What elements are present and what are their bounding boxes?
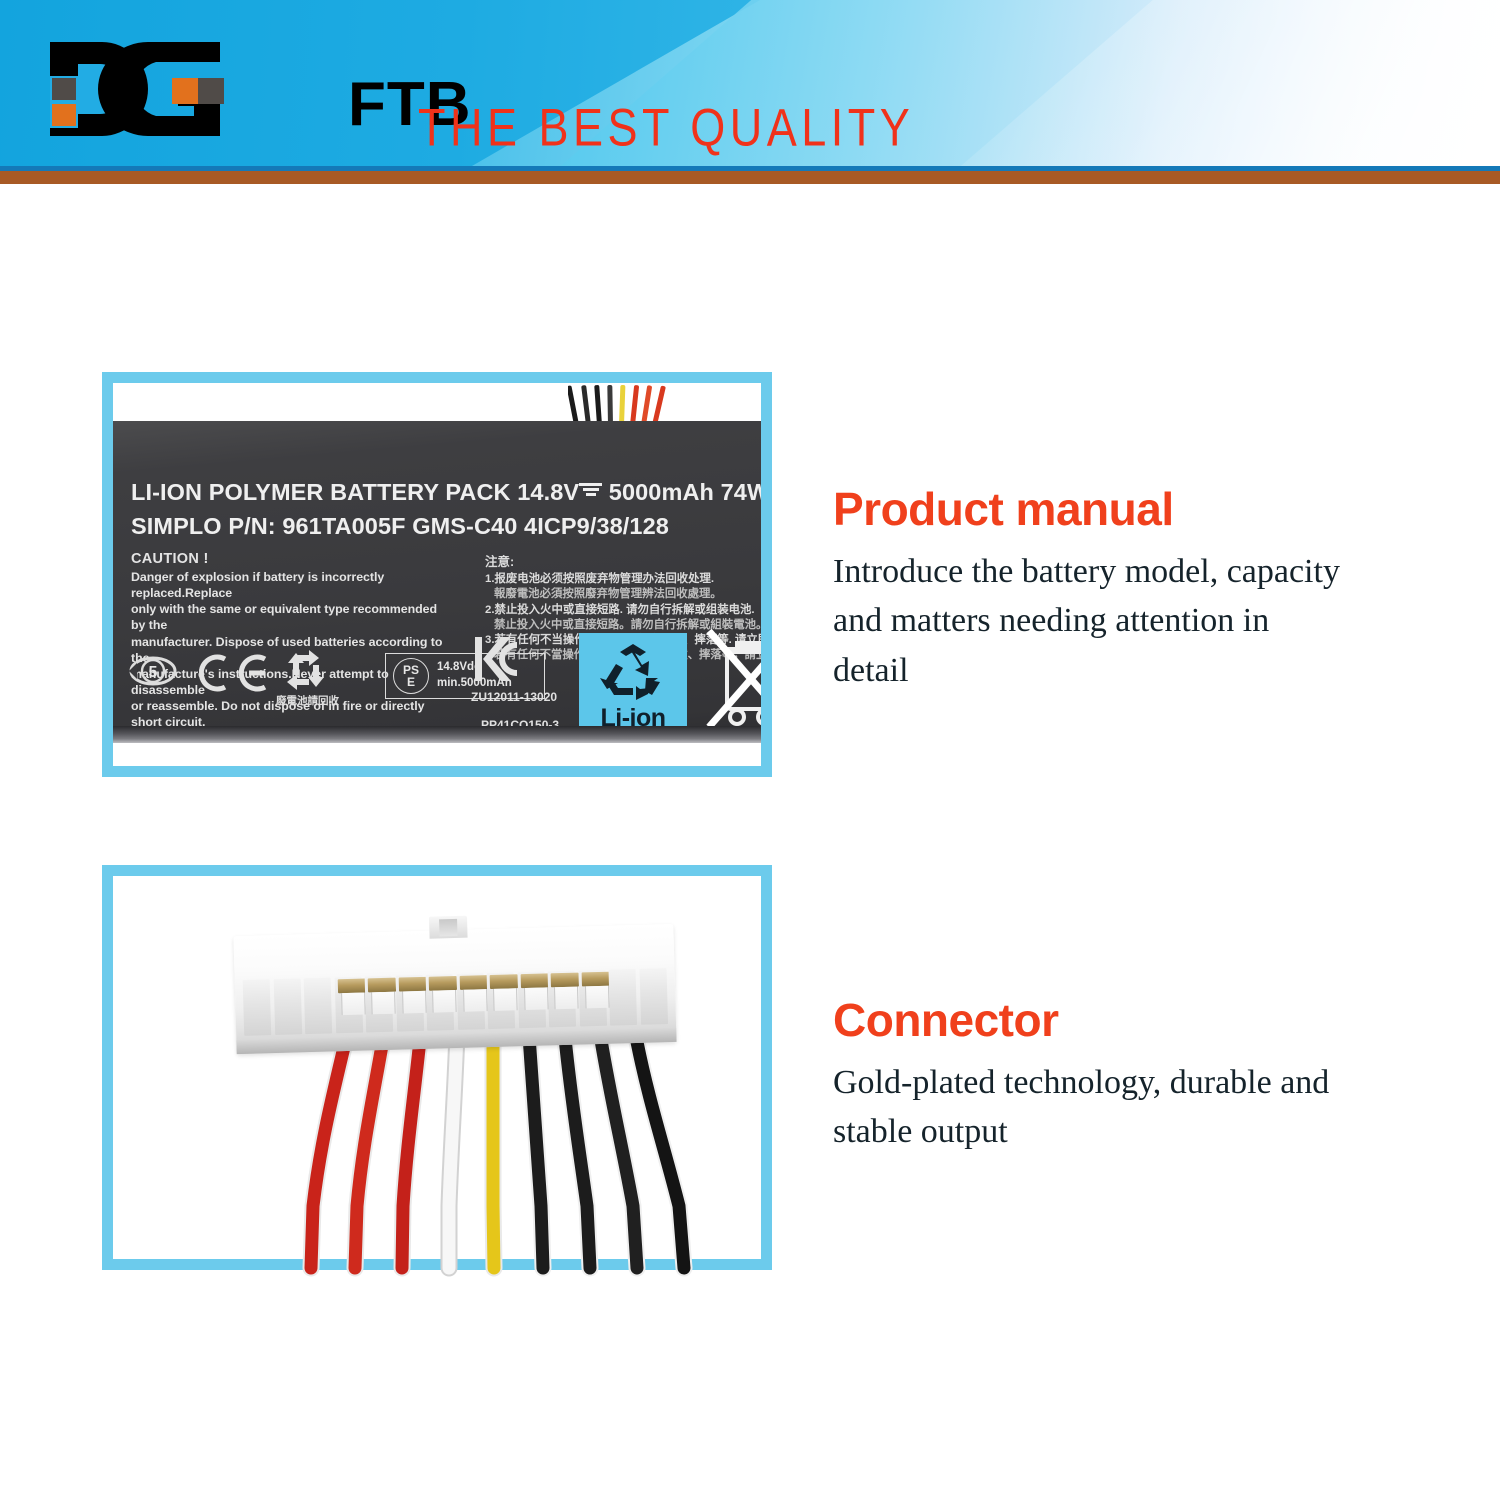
connector-gold-pin [365, 976, 394, 1033]
connector-image-panel [102, 865, 772, 1270]
battery-bottom-bevel [113, 726, 761, 743]
banner-rule-brown [0, 171, 1500, 184]
battery-image-panel: LI-ION POLYMER BATTERY PACK 14.8V 5000mA… [102, 372, 772, 777]
rohs-number: 5 [149, 664, 158, 681]
connector-gold-pin [395, 975, 424, 1032]
dg-logo-icon [44, 38, 356, 140]
dc-symbol-icon [579, 481, 602, 499]
cn-caution-line: 報廢電池必須按照廢弃物管理辨法回收處理。 [485, 587, 757, 602]
infographic-page: FTB THE BEST QUALITY LI-ION POLYMER BATT… [0, 0, 1500, 1500]
caution-line: Danger of explosion if battery is incorr… [131, 569, 443, 601]
product-manual-text: Product manual Introduce the battery mod… [833, 484, 1353, 695]
kc-mark: ZU12011-13020 PP41CO150-3 [471, 635, 559, 732]
rohs-icon: 5 [127, 649, 179, 698]
kc-code-1: ZU12011-13020 [471, 690, 559, 704]
connector-latch-tab [429, 916, 468, 939]
cn-caution-line: 2.禁止投入火中或直接短路. 请勿自行拆解或组装电池. [485, 603, 757, 618]
connector-housing [233, 924, 676, 1054]
weee-crossed-bin-icon [705, 617, 761, 739]
cn-caution-heading: 注意: [485, 551, 757, 570]
caution-line: only with the same or equivalent type re… [131, 601, 443, 633]
connector-text: Connector Gold-plated technology, durabl… [833, 995, 1353, 1157]
product-manual-heading: Product manual [833, 484, 1353, 535]
connector-slot [243, 979, 272, 1036]
battery-photo: LI-ION POLYMER BATTERY PACK 14.8V 5000mA… [113, 383, 761, 766]
battery-spec-line-1: LI-ION POLYMER BATTERY PACK 14.8V 5000mA… [131, 479, 761, 506]
connector-gold-pin [456, 973, 485, 1030]
li-ion-recycle-badge: Li-ion [579, 633, 687, 739]
cn-caution-line: 1.报废电池必须按照废弃物管理办法回收处理. [485, 572, 757, 587]
header-banner: FTB THE BEST QUALITY [0, 0, 1500, 184]
battery-spec-line-2: SIMPLO P/N: 961TA005F GMS-C40 4ICP9/38/1… [131, 513, 669, 540]
pse-icon: PS E [393, 658, 429, 694]
product-manual-body: Introduce the battery model, capacity an… [833, 547, 1353, 696]
battery-wire-bundle-icon [568, 383, 678, 425]
connector-photo [113, 876, 761, 1259]
connector-slot [304, 977, 333, 1034]
banner-slogan: THE BEST QUALITY [418, 97, 914, 158]
connector-body: Gold-plated technology, durable and stab… [833, 1058, 1353, 1157]
connector-gold-pin [578, 970, 607, 1027]
connector-gold-pin [517, 971, 546, 1028]
brand-logo: FTB [44, 38, 472, 140]
connector-pin-row [243, 968, 668, 1036]
connector-gold-pin [548, 971, 577, 1028]
connector-slot [609, 969, 638, 1026]
recycle-label-cn: 廢電池請回收 [276, 693, 339, 708]
connector-gold-pin [487, 972, 516, 1029]
pse-bottom-text: E [407, 676, 415, 688]
li-ion-recycle-icon [596, 642, 670, 704]
connector-gold-pin [426, 974, 455, 1031]
connector-gold-pin [334, 977, 363, 1034]
caution-heading: CAUTION ! [131, 551, 443, 567]
battery-pack-body: LI-ION POLYMER BATTERY PACK 14.8V 5000mA… [113, 421, 761, 743]
connector-slot [273, 978, 302, 1035]
kc-icon [471, 635, 523, 683]
connector-slot [639, 968, 668, 1025]
ce-mark-icon [199, 653, 269, 698]
connector-heading: Connector [833, 995, 1353, 1046]
battery-recycle-icon: 廢電池請回收 [279, 649, 337, 698]
